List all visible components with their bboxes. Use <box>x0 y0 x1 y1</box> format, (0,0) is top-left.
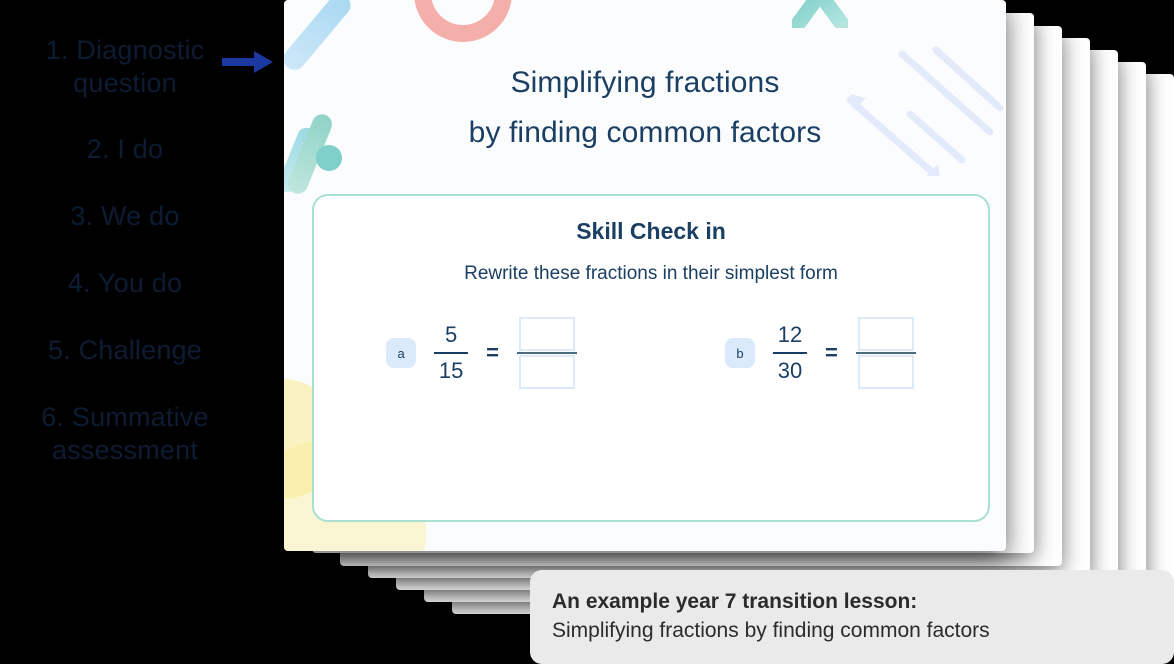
answer-fraction-b <box>856 317 916 389</box>
lesson-step-3[interactable]: 3. We do <box>0 200 250 233</box>
slide-title: Simplifying fractions by finding common … <box>284 58 1006 158</box>
caption-box: An example year 7 transition lesson: Sim… <box>530 570 1174 664</box>
teal-chevron-icon <box>792 0 848 28</box>
question-label-b: b <box>725 338 755 368</box>
slide-title-line-2: by finding common factors <box>284 108 1006 158</box>
fraction-b-bar <box>773 352 807 354</box>
screenshot-stage: 1. Diagnostic question 2. I do 3. We do … <box>0 0 1174 664</box>
fraction-a-bar <box>434 352 468 354</box>
lesson-step-5[interactable]: 5. Challenge <box>0 334 250 367</box>
fraction-b: 12 30 <box>773 322 807 384</box>
lesson-step-2[interactable]: 2. I do <box>0 133 250 166</box>
question-b: b 12 30 = <box>725 317 916 389</box>
skill-check-title: Skill Check in <box>314 218 988 245</box>
slide-title-line-1: Simplifying fractions <box>511 66 780 99</box>
fraction-a-denominator: 15 <box>439 356 463 384</box>
lesson-step-6[interactable]: 6. Summative assessment <box>0 401 250 467</box>
skill-check-card: Skill Check in Rewrite these fractions i… <box>312 194 990 522</box>
equals-sign-b: = <box>825 340 838 366</box>
answer-numerator-input-a[interactable] <box>519 317 575 351</box>
equals-sign-a: = <box>486 340 499 366</box>
questions-row: a 5 15 = b <box>314 317 988 389</box>
question-label-a: a <box>386 338 416 368</box>
fraction-b-denominator: 30 <box>778 356 802 384</box>
fraction-b-numerator: 12 <box>778 322 802 350</box>
lesson-step-4[interactable]: 4. You do <box>0 267 250 300</box>
answer-denominator-input-b[interactable] <box>858 355 914 389</box>
lesson-structure-list: 1. Diagnostic question 2. I do 3. We do … <box>0 34 250 467</box>
fraction-a-numerator: 5 <box>445 322 457 350</box>
skill-check-instruction: Rewrite these fractions in their simples… <box>314 263 988 285</box>
front-slide[interactable]: Simplifying fractions by finding common … <box>284 0 1006 551</box>
answer-numerator-input-b[interactable] <box>858 317 914 351</box>
answer-fraction-bar-a <box>517 352 577 354</box>
answer-fraction-bar-b <box>856 352 916 354</box>
answer-fraction-a <box>517 317 577 389</box>
slide-stack: n3 <box>284 0 1174 570</box>
caption-title: An example year 7 transition lesson: <box>552 588 1152 616</box>
caption-subtitle: Simplifying fractions by finding common … <box>552 616 1152 646</box>
right-arrow-icon <box>222 50 274 74</box>
fraction-a: 5 15 <box>434 322 468 384</box>
answer-denominator-input-a[interactable] <box>519 355 575 389</box>
pink-arc-decoration <box>394 0 533 62</box>
lesson-step-1[interactable]: 1. Diagnostic question <box>0 34 250 100</box>
question-a: a 5 15 = <box>386 317 577 389</box>
